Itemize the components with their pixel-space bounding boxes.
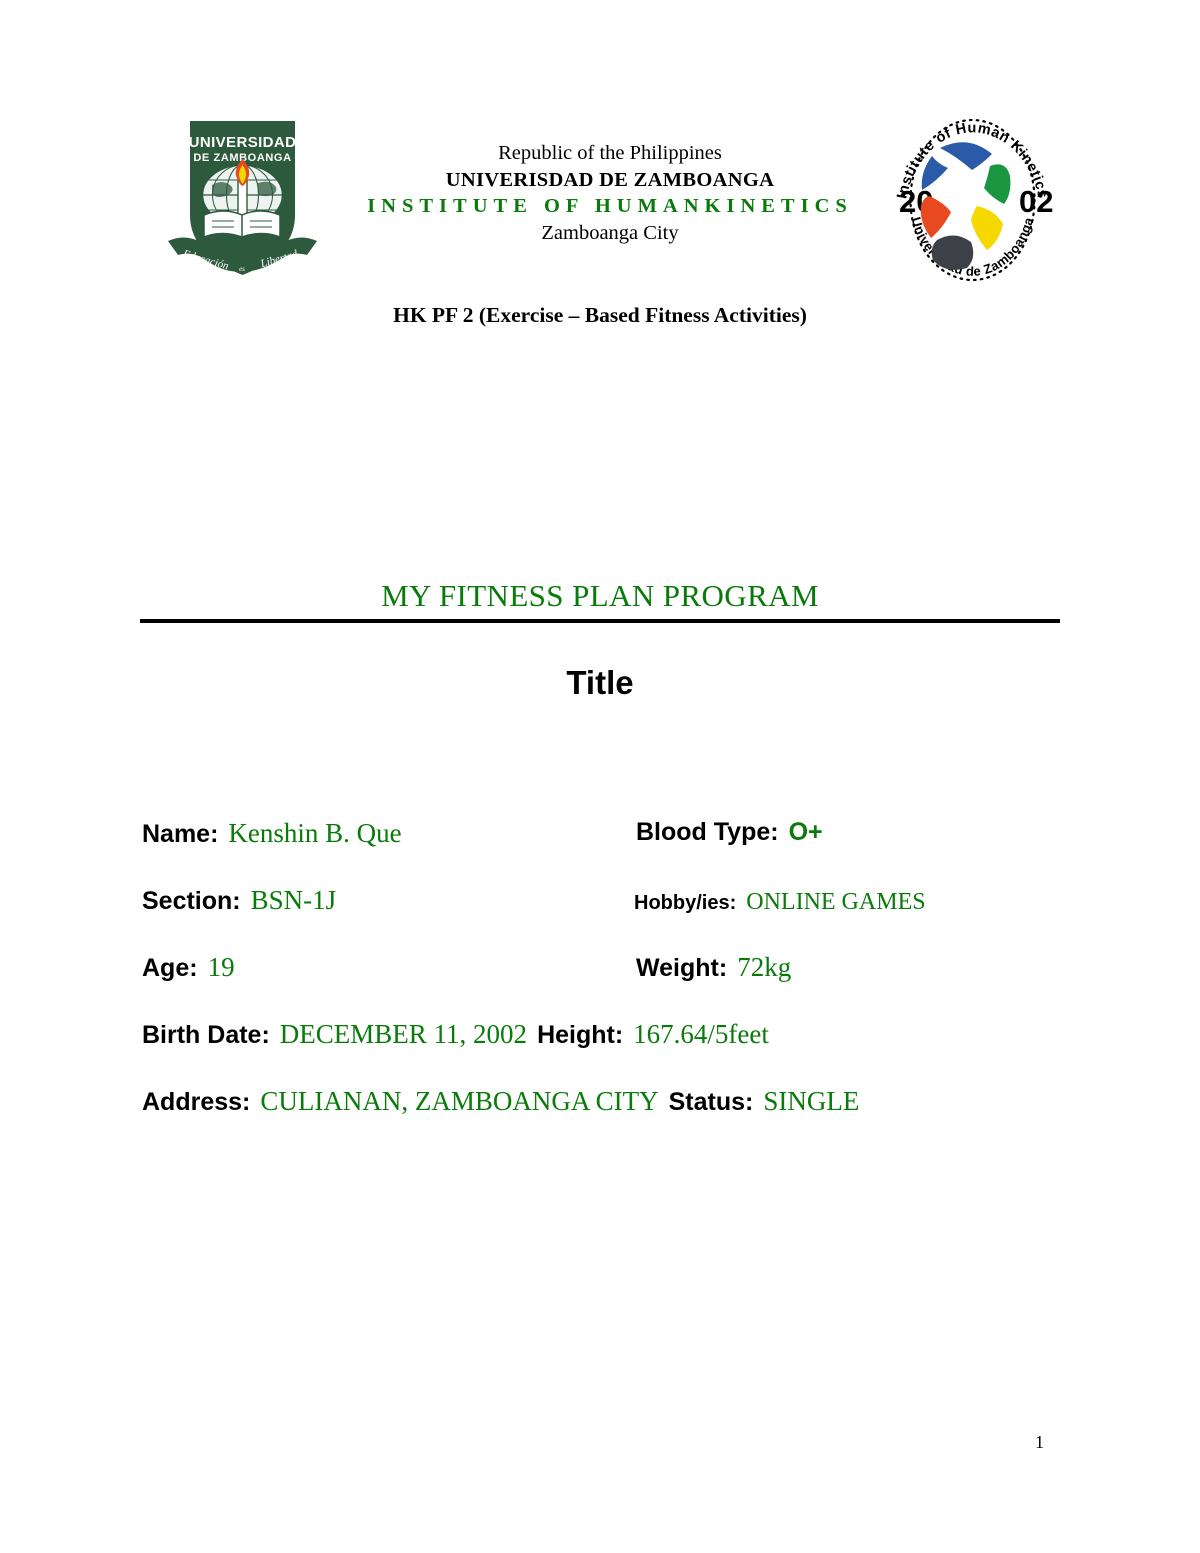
subtitle-placeholder: Title <box>140 664 1060 702</box>
birthdate-and-height: Birth Date:DECEMBER 11, 2002Height:167.6… <box>142 1019 769 1050</box>
weight-field: Weight:72kg <box>636 952 791 983</box>
name-value: Kenshin B. Que <box>228 818 401 848</box>
age-field: Age:19 <box>142 952 235 983</box>
institute-of-human-kinetics-logo: Institute of Human Kinetics Universidad … <box>885 100 1060 300</box>
status-label: Status: <box>669 1088 754 1116</box>
birthdate-value: DECEMBER 11, 2002 <box>280 1019 527 1049</box>
info-row-birthdate: Birth Date:DECEMBER 11, 2002Height:167.6… <box>142 1019 1082 1086</box>
section-field: Section:BSN-1J <box>142 885 336 916</box>
address-value: CULIANAN, ZAMBOANGA CITY <box>260 1086 658 1116</box>
section-value: BSN-1J <box>251 885 337 915</box>
age-label: Age: <box>142 954 198 982</box>
info-row-name: Name:Kenshin B. Que Blood Type:O+ <box>142 818 1082 885</box>
header-line-city: Zamboanga City <box>330 220 890 247</box>
page-title: MY FITNESS PLAN PROGRAM <box>140 578 1060 614</box>
hobby-field: Hobby/ies:ONLINE GAMES <box>634 889 926 916</box>
student-info-block: Name:Kenshin B. Que Blood Type:O+ Sectio… <box>142 818 1082 1153</box>
section-label: Section: <box>142 887 241 915</box>
header-line-republic: Republic of the Philippines <box>330 140 890 167</box>
header-institution-text: Republic of the Philippines UNIVERISDAD … <box>330 140 890 247</box>
birthdate-label: Birth Date: <box>142 1021 270 1049</box>
header-line-institute: INSTITUTE OF HUMANKINETICS <box>330 193 890 220</box>
blood-type-label: Blood Type: <box>636 818 779 846</box>
svg-text:02: 02 <box>1019 184 1053 219</box>
hobby-label: Hobby/ies: <box>634 892 736 914</box>
blood-type-value: O+ <box>789 818 823 846</box>
heading-divider <box>140 619 1060 623</box>
course-title: HK PF 2 (Exercise – Based Fitness Activi… <box>200 303 1000 328</box>
weight-label: Weight: <box>636 954 727 982</box>
name-label: Name: <box>142 820 218 848</box>
height-value: 167.64/5feet <box>633 1019 769 1049</box>
header-line-university: UNIVERISDAD DE ZAMBOANGA <box>330 167 890 194</box>
document-header: UNIVERSIDAD DE ZAMBOANGA <box>0 0 1200 300</box>
blood-type-field: Blood Type:O+ <box>636 818 823 847</box>
address-label: Address: <box>142 1088 250 1116</box>
document-page: UNIVERSIDAD DE ZAMBOANGA <box>0 0 1200 1553</box>
height-label: Height: <box>537 1021 623 1049</box>
info-row-section: Section:BSN-1J Hobby/ies:ONLINE GAMES <box>142 885 1082 952</box>
weight-value: 72kg <box>737 952 791 982</box>
universidad-de-zamboanga-seal: UNIVERSIDAD DE ZAMBOANGA <box>160 103 325 288</box>
hobby-value: ONLINE GAMES <box>746 889 925 915</box>
page-number: 1 <box>1035 1432 1044 1453</box>
svg-text:es: es <box>239 265 245 273</box>
address-and-status: Address:CULIANAN, ZAMBOANGA CITYStatus:S… <box>142 1086 859 1117</box>
age-value: 19 <box>208 952 235 982</box>
status-value: SINGLE <box>763 1086 859 1116</box>
svg-text:UNIVERSIDAD: UNIVERSIDAD <box>189 134 297 151</box>
info-row-address: Address:CULIANAN, ZAMBOANGA CITYStatus:S… <box>142 1086 1082 1153</box>
name-field: Name:Kenshin B. Que <box>142 818 402 849</box>
info-row-age: Age:19 Weight:72kg <box>142 952 1082 1019</box>
